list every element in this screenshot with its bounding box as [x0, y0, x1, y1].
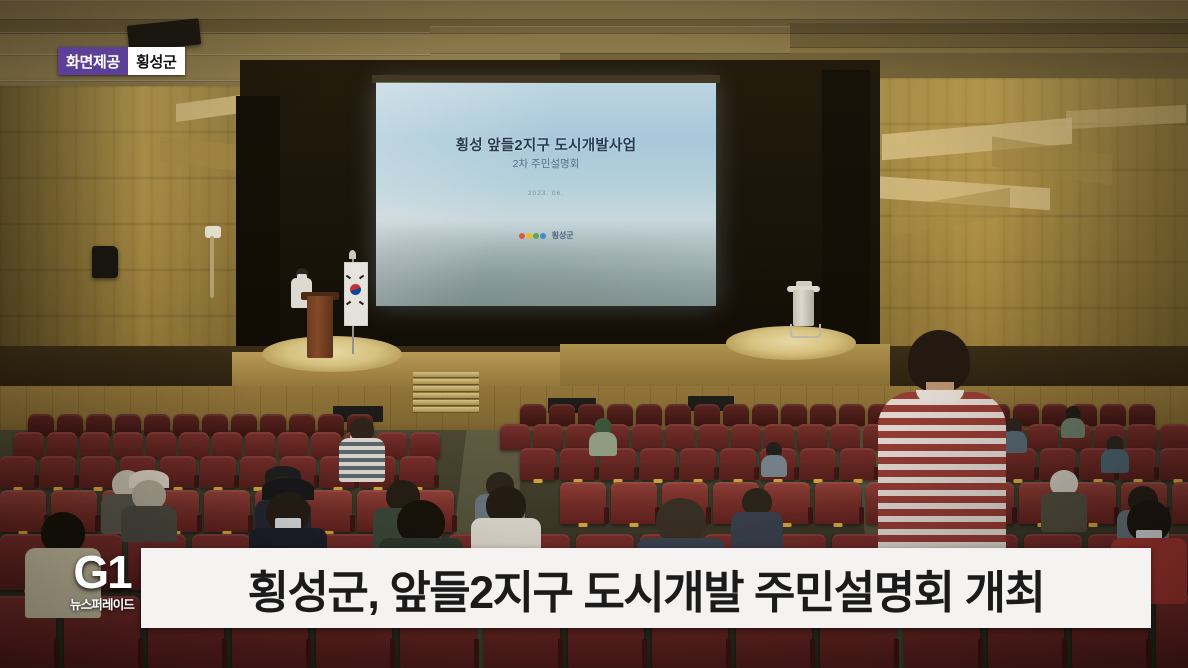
slide-date: 2023. 06. — [376, 190, 716, 197]
side-lectern — [793, 290, 814, 326]
flag-finial-icon — [349, 250, 356, 259]
attendee-foreground — [120, 470, 178, 538]
presenter-mask — [297, 274, 307, 280]
stage-stairs — [413, 372, 479, 416]
proscenium-left — [236, 96, 280, 364]
flag-taeguk-icon — [350, 284, 361, 295]
attendee — [588, 418, 618, 454]
attendee — [1040, 470, 1088, 530]
attendee — [1060, 406, 1086, 438]
projection-screen: 횡성 앞들2지구 도시개발사업 2차 주민설명회 2023. 06. 횡성군 — [376, 82, 716, 306]
attendee — [760, 442, 788, 476]
podium — [307, 296, 333, 358]
broadcast-frame: 횡성 앞들2지구 도시개발사업 2차 주민설명회 2023. 06. 횡성군 — [0, 0, 1188, 668]
slide-logo: 횡성군 — [376, 230, 716, 241]
wall-fixture-icon — [92, 246, 118, 278]
attendee-standing — [338, 418, 386, 480]
source-badge: 화면제공 횡성군 — [58, 47, 185, 75]
side-lectern-frame — [790, 324, 821, 338]
headline-text: 횡성군, 앞들2지구 도시개발 주민설명회 개최 — [248, 556, 1045, 621]
source-provider-label: 화면제공 — [58, 47, 128, 75]
lower-third: G1 뉴스퍼레이드 횡성군, 앞들2지구 도시개발 주민설명회 개최 — [0, 540, 1188, 638]
slide-logo-label: 횡성군 — [552, 231, 574, 240]
slide-title: 횡성 앞들2지구 도시개발사업 — [376, 134, 716, 155]
headline-bar: 횡성군, 앞들2지구 도시개발 주민설명회 개최 — [141, 548, 1151, 628]
slide-subtitle: 2차 주민설명회 — [376, 156, 716, 171]
sconce-stem — [210, 236, 214, 298]
standing-man-collar — [916, 390, 964, 402]
logo-dots-icon — [518, 231, 548, 240]
proscenium-right — [822, 70, 870, 360]
attendee — [1100, 436, 1130, 472]
source-provider-name: 횡성군 — [128, 47, 185, 75]
